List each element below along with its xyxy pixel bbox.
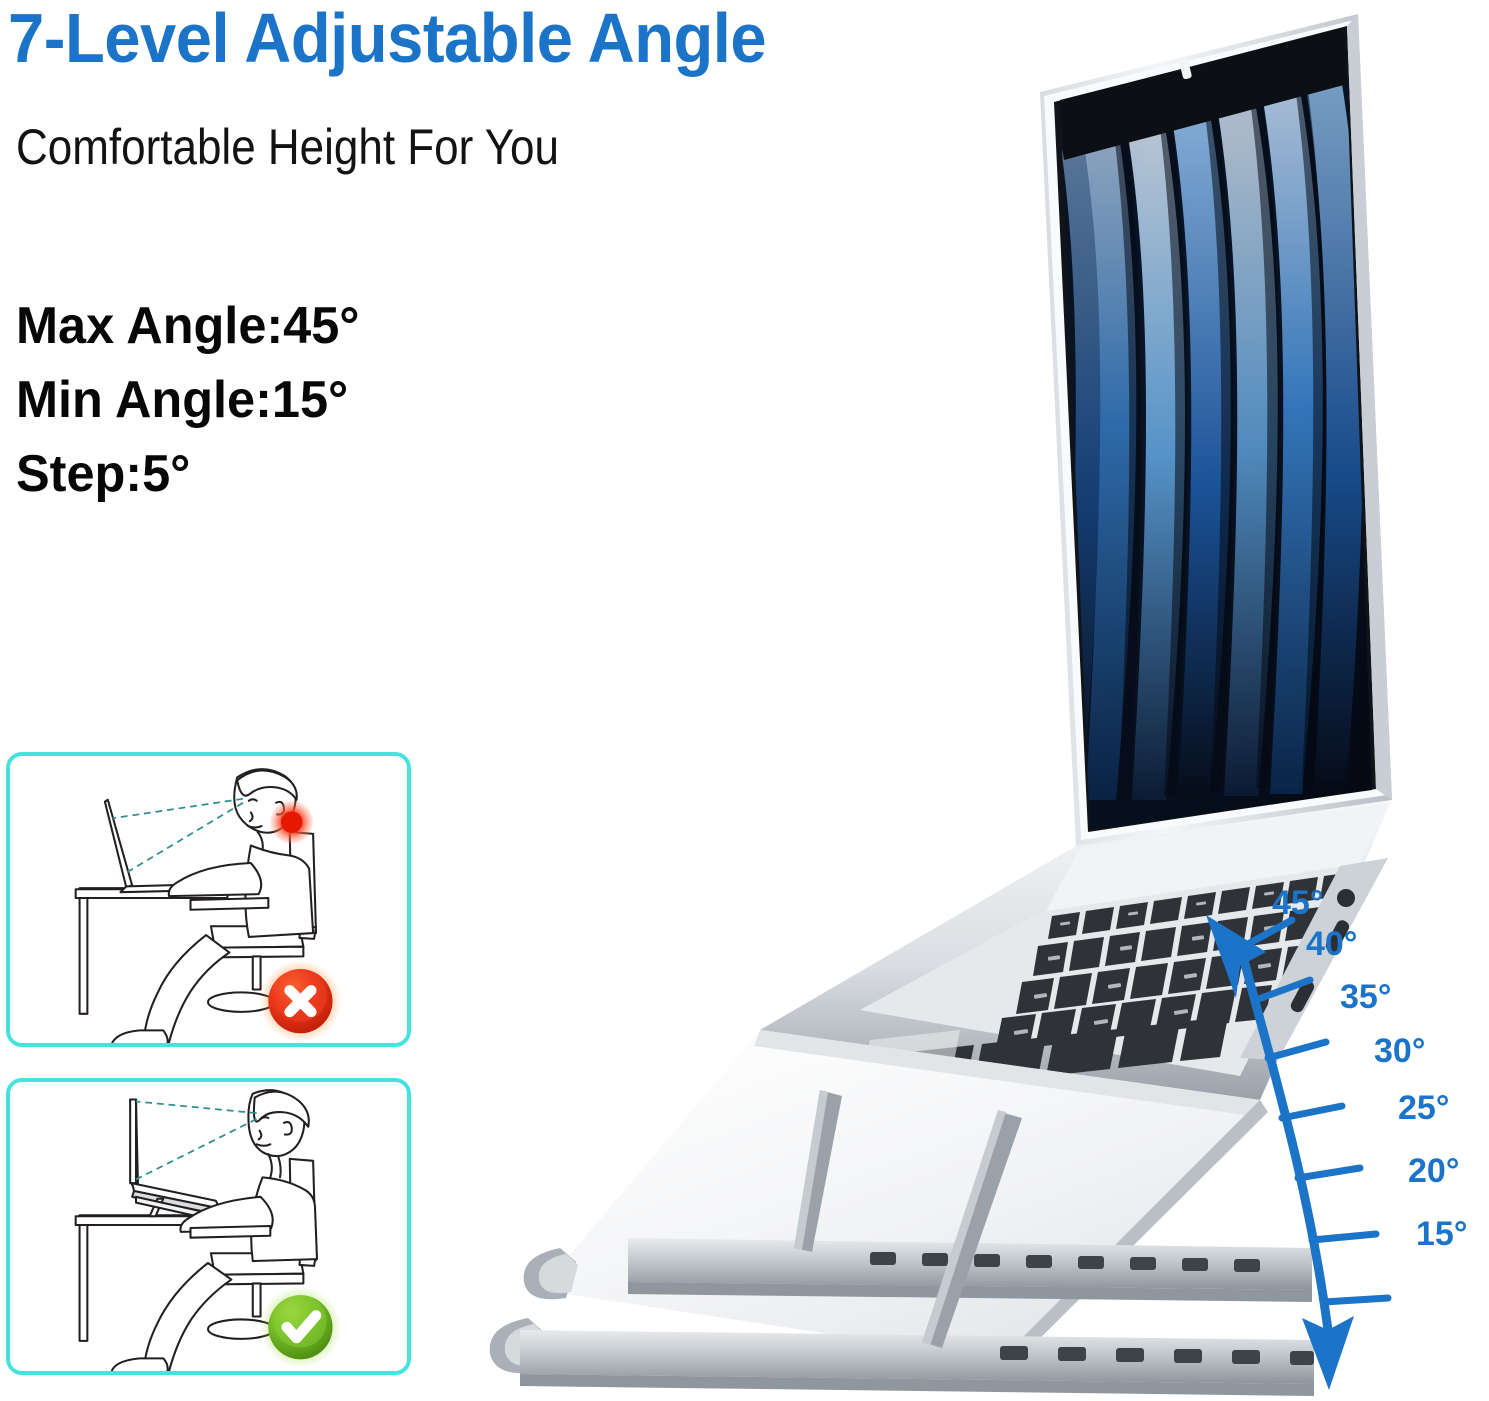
marketing-image: 7-Level Adjustable Angle Comfortable Hei… bbox=[0, 0, 1489, 1401]
angle-label-45: 45° bbox=[1272, 884, 1323, 923]
angle-label-20: 20° bbox=[1408, 1152, 1459, 1191]
bad-posture-card bbox=[6, 752, 411, 1047]
spec-list: Max Angle:45° Min Angle:15° Step:5° bbox=[16, 290, 370, 511]
angle-label-30: 30° bbox=[1374, 1032, 1425, 1071]
good-posture-card bbox=[6, 1078, 411, 1375]
angle-label-35: 35° bbox=[1340, 978, 1391, 1017]
product-illustration bbox=[440, 0, 1489, 1401]
spec-step: Step:5° bbox=[16, 438, 359, 512]
angle-label-40: 40° bbox=[1306, 925, 1357, 964]
spec-max-angle: Max Angle:45° bbox=[16, 290, 359, 364]
angle-label-15: 15° bbox=[1416, 1215, 1467, 1254]
angle-label-25: 25° bbox=[1398, 1089, 1449, 1128]
spec-min-angle: Min Angle:15° bbox=[16, 364, 359, 438]
